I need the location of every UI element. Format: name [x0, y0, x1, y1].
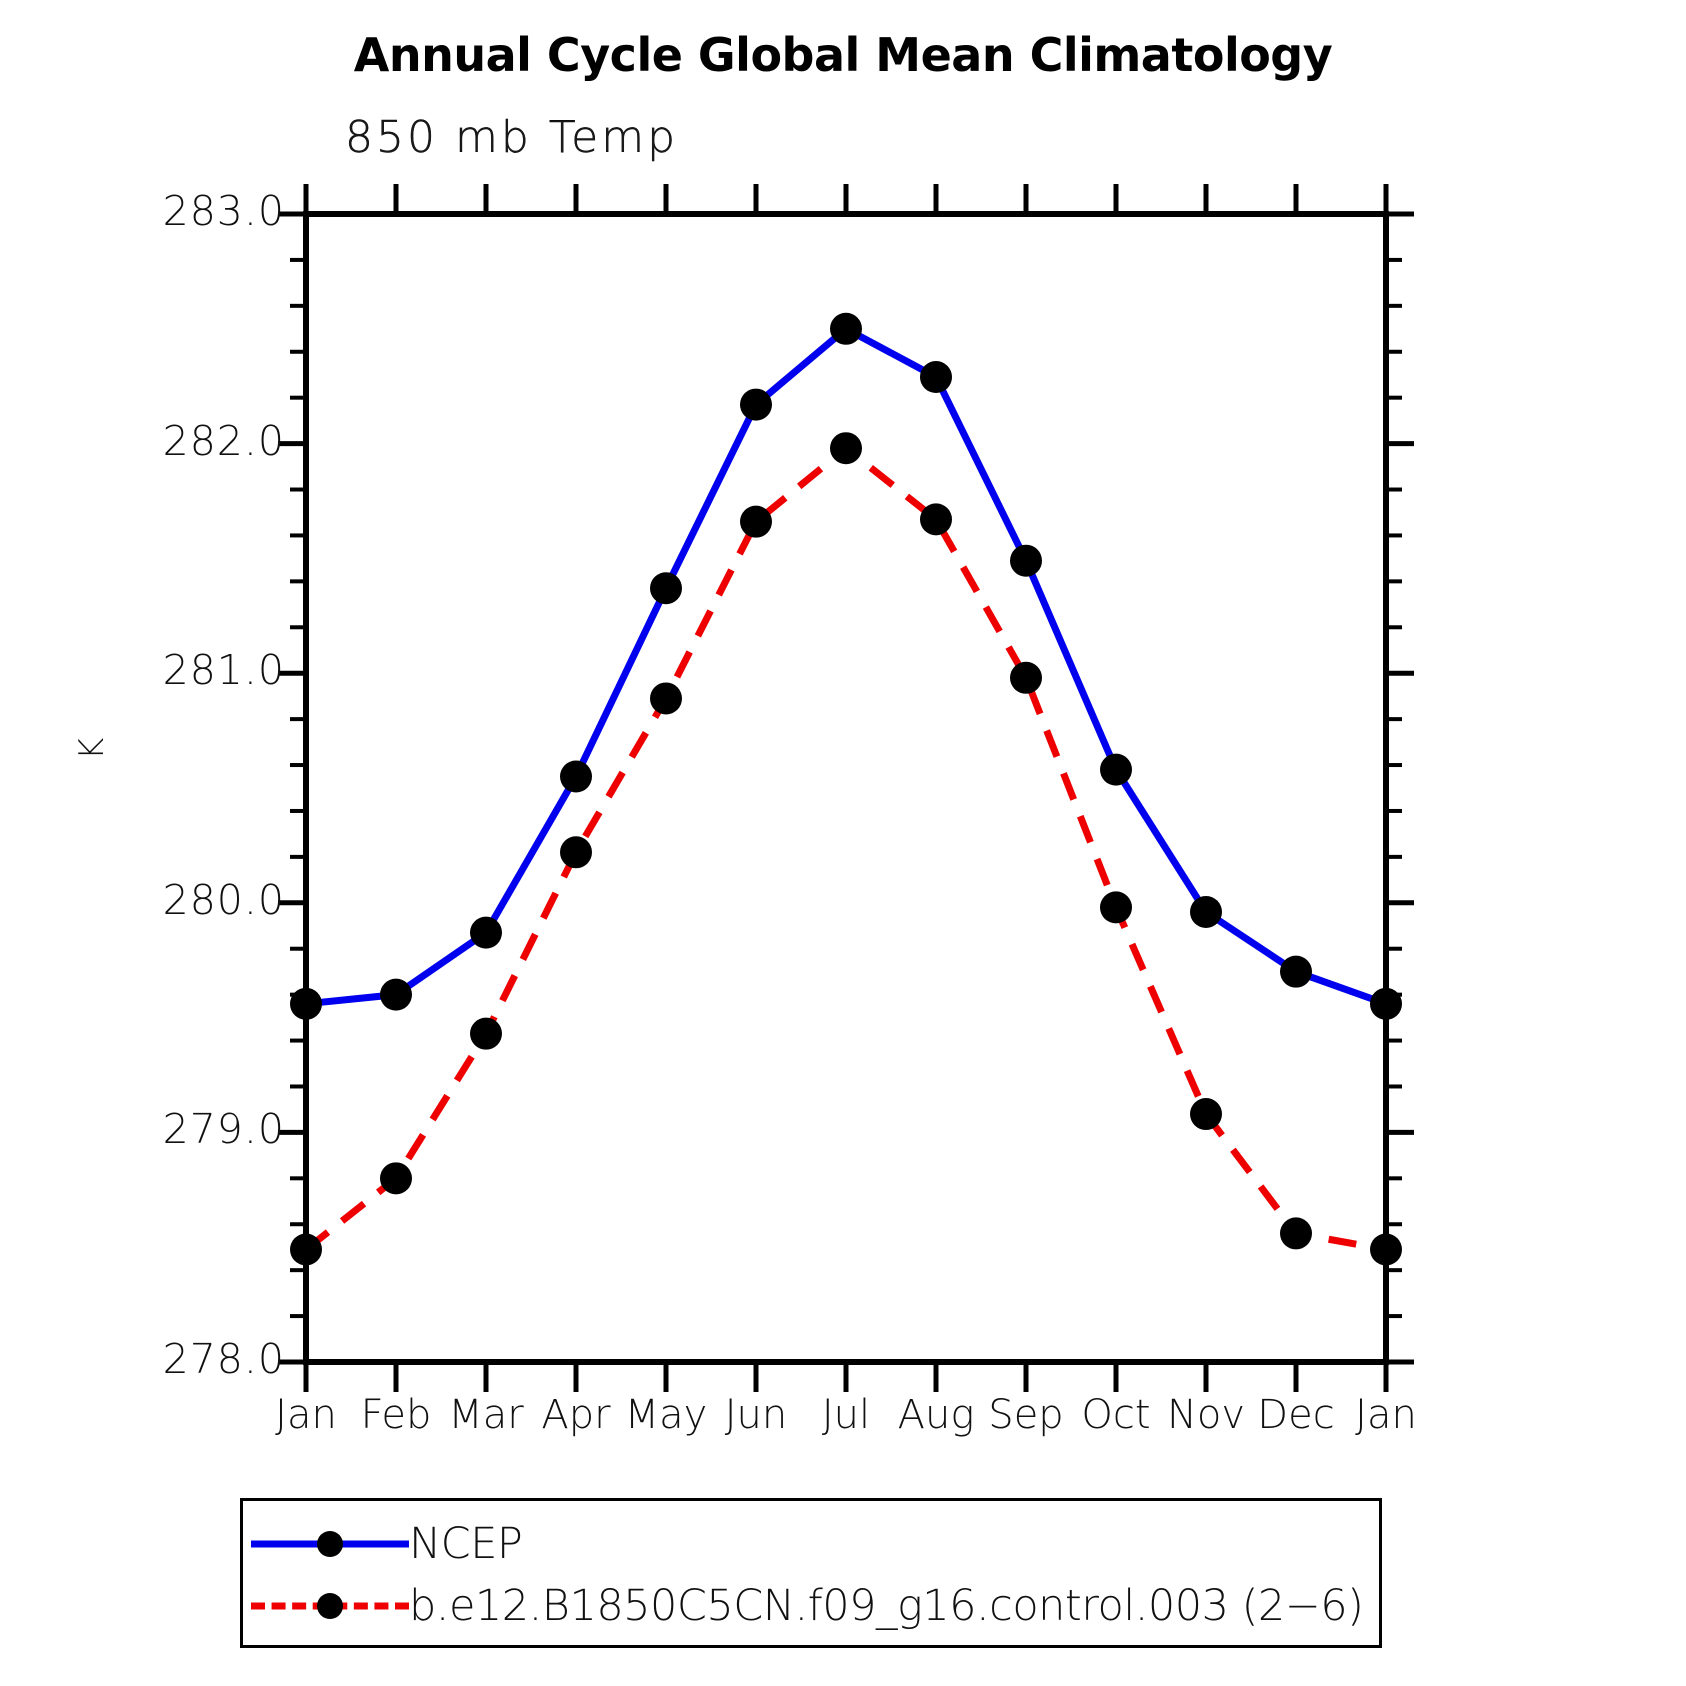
legend-label: NCEP — [409, 1519, 522, 1569]
data-point-marker — [740, 506, 772, 538]
x-tick-label-jun-5: Jun — [725, 1392, 788, 1438]
data-point-marker — [1370, 1233, 1402, 1265]
legend-entry-ncep: NCEP — [243, 1511, 522, 1577]
data-point-marker — [830, 432, 862, 464]
series-line-ncep — [306, 329, 1386, 1004]
x-tick-label-jan-0: Jan — [275, 1392, 337, 1438]
x-tick-label-may-4: May — [625, 1392, 708, 1438]
data-point-marker — [1010, 662, 1042, 694]
legend-marker-icon — [317, 1531, 343, 1557]
x-tick-label-mar-2: Mar — [448, 1392, 523, 1438]
data-point-marker — [1370, 988, 1402, 1020]
data-point-marker — [560, 761, 592, 793]
y-tick-label-text: 281.0 — [163, 646, 285, 694]
data-point-marker — [830, 313, 862, 345]
data-point-marker — [290, 988, 322, 1020]
legend-label: b.e12.B1850C5CN.f09_g16.control.003 (2−6… — [409, 1581, 1363, 1631]
x-tick-label-apr-3: Apr — [541, 1392, 610, 1438]
y-tick-label-text: 282.0 — [163, 417, 285, 465]
data-point-marker — [740, 389, 772, 421]
x-tick-label-jul-6: Jul — [822, 1392, 870, 1438]
x-tick-label-aug-7: Aug — [898, 1392, 975, 1438]
data-point-marker — [650, 682, 682, 714]
y-tick-label-text: 278.0 — [163, 1335, 285, 1383]
x-tick-label-feb-1: Feb — [361, 1392, 432, 1438]
chart-page: Annual Cycle Global Mean Climatology 850… — [0, 0, 1686, 1686]
x-tick-label-dec-11: Dec — [1257, 1392, 1334, 1438]
data-point-marker — [920, 503, 952, 535]
data-point-marker — [1280, 1217, 1312, 1249]
x-tick-label-nov-10: Nov — [1167, 1392, 1245, 1438]
legend: NCEP b.e12.B1850C5CN.f09_g16.control.003… — [240, 1498, 1382, 1648]
data-point-marker — [650, 572, 682, 604]
x-tick-label-oct-9: Oct — [1081, 1392, 1150, 1438]
x-tick-label-jan-12: Jan — [1355, 1392, 1417, 1438]
legend-marker-icon — [317, 1593, 343, 1619]
legend-swatch-solid-blue — [251, 1524, 409, 1564]
data-point-marker — [470, 1018, 502, 1050]
data-point-marker — [1100, 754, 1132, 786]
data-point-marker — [380, 1162, 412, 1194]
data-point-marker — [1100, 891, 1132, 923]
y-tick-label-text: 279.0 — [163, 1105, 285, 1153]
axes-layer — [278, 184, 1414, 1392]
data-point-marker — [470, 917, 502, 949]
data-point-marker — [1280, 956, 1312, 988]
data-point-marker — [1010, 545, 1042, 577]
data-point-marker — [1190, 896, 1222, 928]
legend-entry-model: b.e12.B1850C5CN.f09_g16.control.003 (2−6… — [243, 1573, 1363, 1639]
series-line-model — [306, 448, 1386, 1249]
data-point-marker — [1190, 1098, 1222, 1130]
data-point-marker — [560, 836, 592, 868]
series-layer — [290, 313, 1402, 1266]
y-tick-label-text: 280.0 — [163, 876, 285, 924]
plot-frame — [306, 214, 1386, 1362]
data-point-marker — [290, 1233, 322, 1265]
x-tick-label-sep-8: Sep — [988, 1392, 1063, 1438]
data-point-marker — [380, 979, 412, 1011]
legend-swatch-dashed-red — [251, 1586, 409, 1626]
y-tick-label-text: 283.0 — [163, 187, 285, 235]
data-point-marker — [920, 361, 952, 393]
